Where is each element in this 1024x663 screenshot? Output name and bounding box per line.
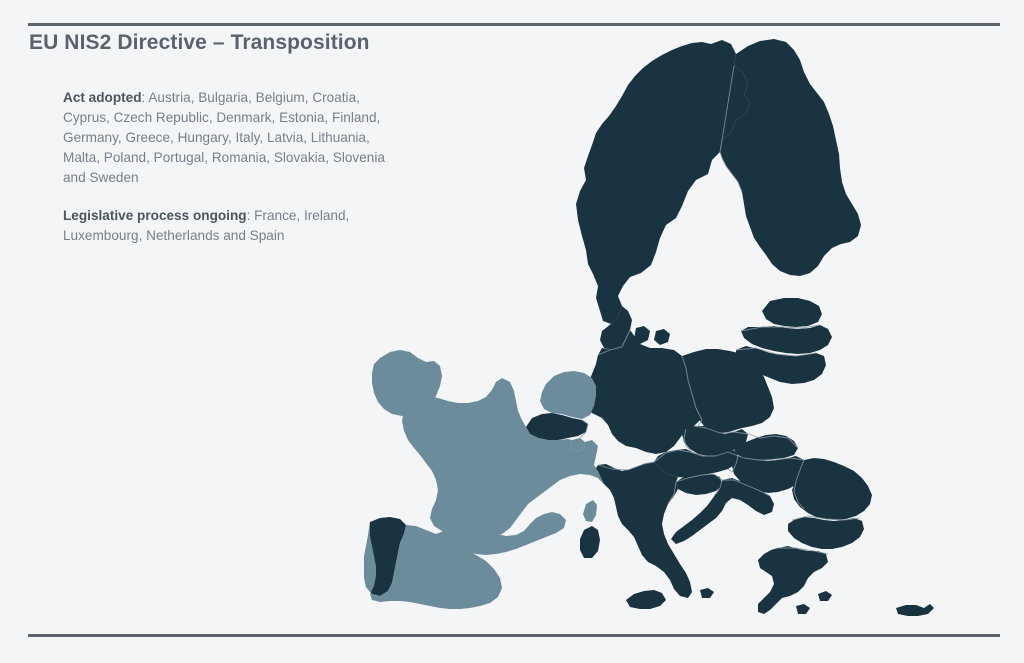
legend-label-ongoing: Legislative process ongoing (63, 208, 247, 223)
header-divider-top (28, 23, 1000, 26)
legend-swatch-adopted (29, 89, 53, 113)
legend-swatch-ongoing (29, 207, 53, 231)
page-title: EU NIS2 Directive – Transposition (29, 31, 370, 55)
europe-map (330, 28, 1024, 628)
europe-map-svg (330, 28, 1024, 628)
island-sardinia (580, 526, 600, 558)
country-greece (758, 546, 832, 614)
country-estonia (762, 298, 822, 327)
island-corsica (583, 500, 597, 522)
country-netherlands (540, 371, 596, 419)
legend-label-adopted: Act adopted (63, 90, 142, 105)
country-cyprus (896, 604, 934, 616)
footer-divider-bottom (28, 634, 1000, 637)
slide-canvas: EU NIS2 Directive – Transposition Act ad… (0, 0, 1024, 663)
legend-separator-ongoing: : (247, 208, 255, 223)
country-romania (792, 458, 872, 520)
country-bulgaria (788, 517, 864, 549)
country-sweden (576, 40, 750, 324)
